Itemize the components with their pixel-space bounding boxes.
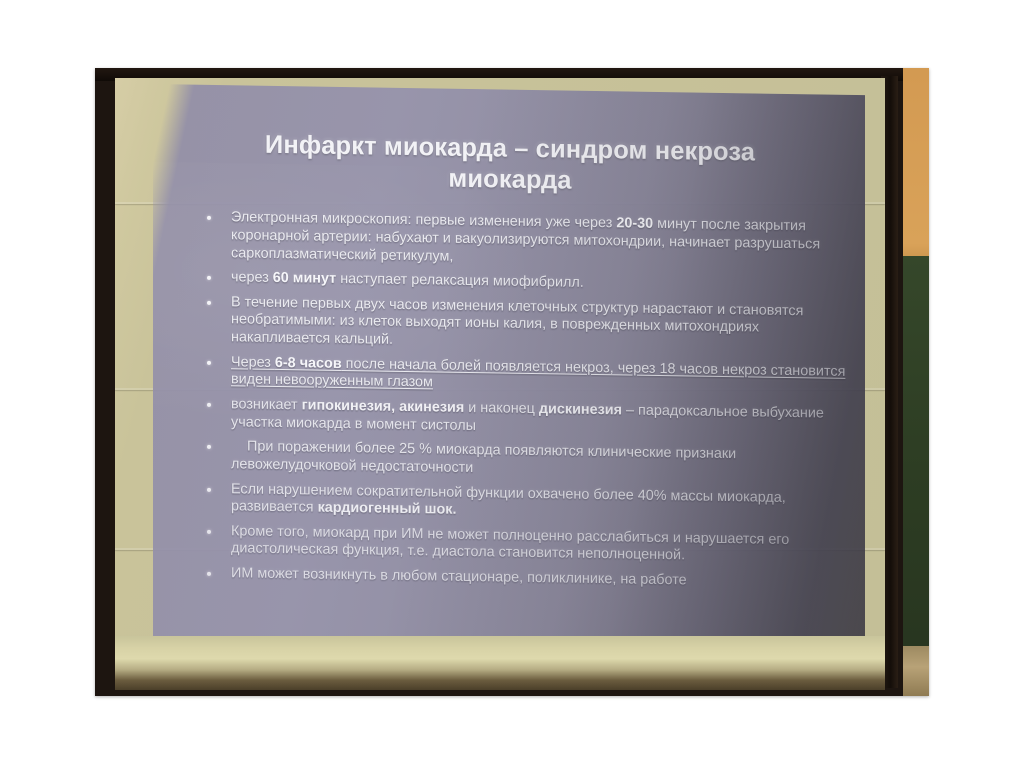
bullet-anywhere: ИМ может возникнуть в любом стационаре, … bbox=[197, 565, 851, 593]
screen-roller-bar bbox=[115, 636, 885, 690]
bullet-6-8-hours-necrosis: Через 6-8 часов после начала болей появл… bbox=[197, 353, 851, 399]
bullet-emphasis: 20-30 bbox=[616, 215, 653, 232]
slide-content: Инфаркт миокарда – синдром некроза миока… bbox=[153, 84, 865, 651]
bullet-text: Если нарушением сократительной функции о… bbox=[231, 481, 786, 516]
bullet-electron-microscopy: Электронная микроскопия: первые изменени… bbox=[197, 209, 851, 272]
projected-slide: Инфаркт миокарда – синдром некроза миока… bbox=[153, 84, 865, 651]
bullet-text: Через bbox=[231, 354, 275, 371]
bullet-text: Кроме того, миокард при ИМ не может полн… bbox=[231, 523, 789, 564]
bullet-text: наступает релаксация миофибрилл. bbox=[336, 271, 584, 291]
slide-title: Инфаркт миокарда – синдром некроза миока… bbox=[153, 84, 865, 201]
bullet-emphasis: гипокинезия, акинезия bbox=[302, 397, 465, 416]
bullet-emphasis: дискинезия bbox=[539, 401, 622, 418]
bullet-60-minutes: через 60 минут наступает релаксация миоф… bbox=[197, 269, 851, 297]
bullet-hypokinesia: возникает гипокинезия, акинезия и наконе… bbox=[197, 396, 851, 442]
bullet-emphasis: 60 минут bbox=[273, 270, 336, 287]
bullet-emphasis: кардиогенный шок. bbox=[318, 500, 457, 518]
bullet-text: и наконец bbox=[464, 400, 539, 417]
bullet-first-two-hours: В течение первых двух часов изменения кл… bbox=[197, 293, 851, 356]
bullet-text: ИМ может возникнуть в любом стационаре, … bbox=[231, 565, 687, 588]
slide-bullet-list: Электронная микроскопия: первые изменени… bbox=[153, 190, 865, 593]
bullet-text: через bbox=[231, 269, 273, 286]
lecture-slide-photograph: Инфаркт миокарда – синдром некроза миока… bbox=[95, 68, 929, 696]
bullet-emphasis: 6-8 часов bbox=[275, 355, 342, 372]
bullet-text: В течение первых двух часов изменения кл… bbox=[231, 294, 803, 348]
bullet-40-percent-shock: Если нарушением сократительной функции о… bbox=[197, 480, 851, 526]
bullet-text: возникает bbox=[231, 396, 302, 413]
bullet-25-percent: При поражении более 25 % миокарда появля… bbox=[197, 438, 851, 484]
projection-screen: Инфаркт миокарда – синдром некроза миока… bbox=[115, 78, 885, 690]
page-canvas: Инфаркт миокарда – синдром некроза миока… bbox=[0, 0, 1024, 767]
bullet-text: При поражении более 25 % миокарда появля… bbox=[231, 439, 736, 476]
screen-frame: Инфаркт миокарда – синдром некроза миока… bbox=[95, 68, 903, 696]
bullet-diastolic-function: Кроме того, миокард при ИМ не может полн… bbox=[197, 523, 851, 569]
